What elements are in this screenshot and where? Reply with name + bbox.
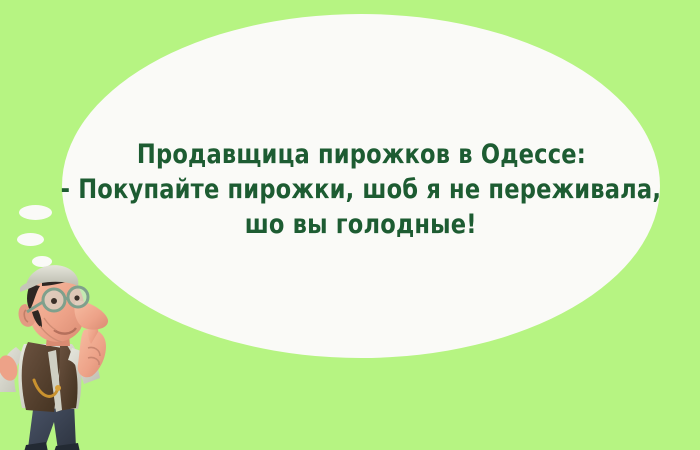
speech-line-2: - Покупайте пирожки, шоб я не переживала…	[61, 172, 662, 207]
meme-card: Продавщица пирожков в Одессе: - Покупайт…	[0, 0, 700, 450]
speech-line-1: Продавщица пирожков в Одессе:	[136, 137, 585, 172]
character-vest	[22, 342, 78, 412]
speech-line-3: шо вы голодные!	[245, 207, 477, 242]
eye-left	[51, 298, 57, 304]
watch-fob	[55, 385, 61, 391]
thought-dot-medium	[17, 233, 44, 246]
character-illustration	[0, 252, 131, 450]
eye-right	[74, 295, 79, 300]
speech-bubble-text: Продавщица пирожков в Одессе: - Покупайт…	[62, 14, 660, 358]
speech-bubble: Продавщица пирожков в Одессе: - Покупайт…	[62, 14, 660, 358]
thought-dot-large	[19, 205, 52, 220]
